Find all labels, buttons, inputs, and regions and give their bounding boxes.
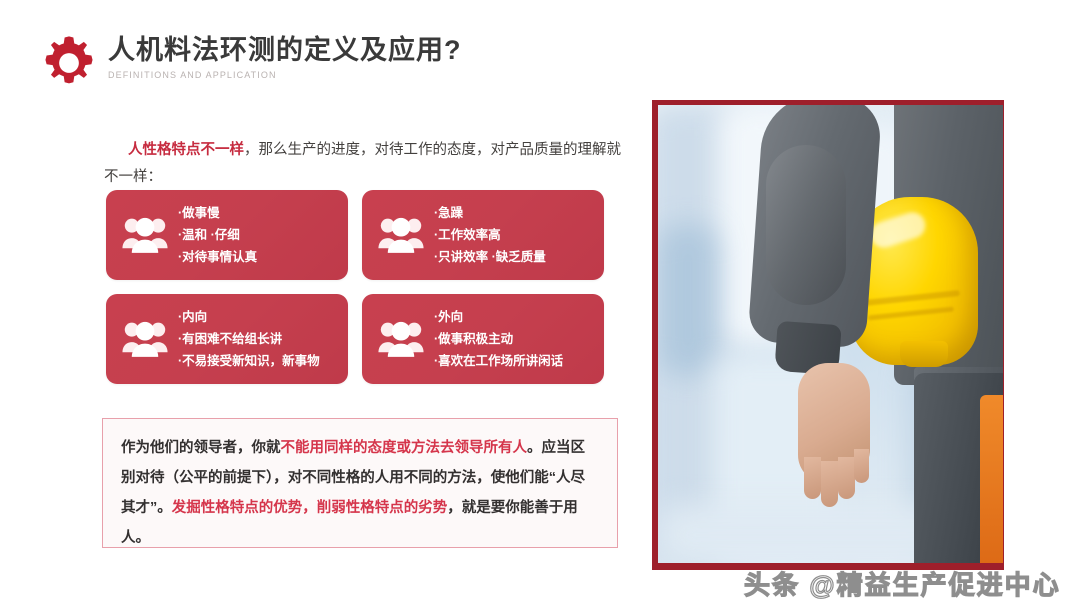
personality-card[interactable]: ·内向 ·有困难不给组长讲 ·不易接受新知识，新事物 bbox=[106, 294, 348, 384]
people-group-icon bbox=[374, 212, 428, 258]
worker-photo bbox=[658, 105, 1003, 563]
worker-trouser-stripe bbox=[980, 395, 1003, 563]
slide-header: 人机料法环测的定义及应用? DEFINITIONS AND APPLICATIO… bbox=[40, 30, 660, 100]
conclusion-highlight-1: 不能用同样的态度或方法去领导所有人 bbox=[281, 440, 528, 456]
header-text-block: 人机料法环测的定义及应用? DEFINITIONS AND APPLICATIO… bbox=[108, 30, 462, 82]
card-line: ·急躁 bbox=[434, 202, 594, 224]
personality-card-grid: ·做事慢 ·温和 ·仔细 ·对待事情认真 ·急躁 ·工作效率高 ·只讲效率 bbox=[106, 190, 604, 384]
card-line: ·有困难不给组长讲 bbox=[178, 328, 338, 350]
card-line: ·对待事情认真 bbox=[178, 246, 338, 268]
photo-background-blob bbox=[658, 225, 718, 375]
intro-highlight: 人性格特点不一样 bbox=[128, 142, 244, 158]
conclusion-text: 作为他们的领导者，你就不能用同样的态度或方法去领导所有人。应当区别对待（公平的前… bbox=[121, 433, 599, 553]
worker-finger bbox=[821, 461, 838, 507]
card-line: ·温和 ·仔细 bbox=[178, 224, 338, 246]
personality-card[interactable]: ·做事慢 ·温和 ·仔细 ·对待事情认真 bbox=[106, 190, 348, 280]
worker-finger bbox=[804, 457, 821, 499]
worker-finger bbox=[838, 457, 855, 499]
card-line: ·内向 bbox=[178, 306, 338, 328]
watermark-text: 头条 @精益生产促进中心 bbox=[744, 565, 1061, 602]
people-group-icon bbox=[374, 316, 428, 362]
intro-paragraph: 人性格特点不一样，那么生产的进度，对待工作的态度，对产品质量的理解就不一样： bbox=[104, 137, 624, 191]
card-line: ·只讲效率 ·缺乏质量 bbox=[434, 246, 594, 268]
conclusion-highlight-2: 发掘性格特点的优势，削弱性格特点的劣势 bbox=[172, 500, 448, 516]
card-line: ·工作效率高 bbox=[434, 224, 594, 246]
conclusion-part1: 作为他们的领导者，你就 bbox=[121, 440, 281, 456]
card-line: ·做事积极主动 bbox=[434, 328, 594, 350]
page-title: 人机料法环测的定义及应用? bbox=[108, 30, 462, 70]
card-line: ·外向 bbox=[434, 306, 594, 328]
people-group-icon bbox=[118, 212, 172, 258]
card-line: ·喜欢在工作场所讲闲话 bbox=[434, 350, 594, 372]
personality-card[interactable]: ·外向 ·做事积极主动 ·喜欢在工作场所讲闲话 bbox=[362, 294, 604, 384]
conclusion-box: 作为他们的领导者，你就不能用同样的态度或方法去领导所有人。应当区别对待（公平的前… bbox=[102, 418, 618, 548]
card-text-lines: ·内向 ·有困难不给组长讲 ·不易接受新知识，新事物 bbox=[178, 306, 338, 372]
worker-arm-shading bbox=[766, 145, 846, 305]
card-text-lines: ·急躁 ·工作效率高 ·只讲效率 ·缺乏质量 bbox=[434, 202, 594, 268]
worker-finger bbox=[854, 449, 869, 483]
personality-card[interactable]: ·急躁 ·工作效率高 ·只讲效率 ·缺乏质量 bbox=[362, 190, 604, 280]
gear-icon bbox=[40, 34, 98, 92]
hard-hat-brim bbox=[900, 341, 948, 367]
slide-canvas: 人机料法环测的定义及应用? DEFINITIONS AND APPLICATIO… bbox=[0, 0, 1080, 608]
people-group-icon bbox=[118, 316, 172, 362]
card-line: ·不易接受新知识，新事物 bbox=[178, 350, 338, 372]
card-text-lines: ·外向 ·做事积极主动 ·喜欢在工作场所讲闲话 bbox=[434, 306, 594, 372]
card-line: ·做事慢 bbox=[178, 202, 338, 224]
card-text-lines: ·做事慢 ·温和 ·仔细 ·对待事情认真 bbox=[178, 202, 338, 268]
page-subtitle: DEFINITIONS AND APPLICATION bbox=[108, 68, 462, 82]
